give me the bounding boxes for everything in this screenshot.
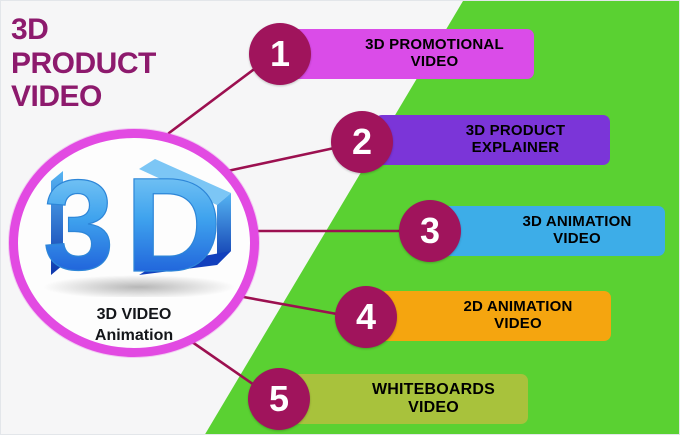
logo-caption: 3D VIDEO Animation (9, 304, 259, 346)
svg-text:D: D (125, 151, 222, 297)
page-title: 3D PRODUCT VIDEO (11, 13, 221, 114)
row-2-number: 2 (352, 121, 372, 163)
svg-text:3: 3 (43, 154, 114, 297)
infographic-canvas: 3D PRODUCT VIDEO (0, 0, 680, 435)
page-title-line-1: 3D (11, 13, 221, 47)
row-4-number: 4 (356, 296, 376, 338)
logo-circle: 3 D 3D VIDEO Animation (9, 129, 267, 364)
row-5-number: 5 (269, 378, 289, 420)
row-2-number-badge[interactable]: 2 (331, 111, 393, 173)
row-3-number: 3 (420, 210, 440, 252)
row-2-bar[interactable]: 3D PRODUCT EXPLAINER (375, 115, 610, 165)
row-2-label: 3D PRODUCT EXPLAINER (466, 123, 566, 157)
row-5-number-badge[interactable]: 5 (248, 368, 310, 430)
row-1-number-badge[interactable]: 1 (249, 23, 311, 85)
three-d-logo-icon: 3 D (21, 147, 249, 297)
row-4-number-badge[interactable]: 4 (335, 286, 397, 348)
row-4-label: 2D ANIMATION VIDEO (463, 299, 572, 333)
row-3-number-badge[interactable]: 3 (399, 200, 461, 262)
row-5-bar[interactable]: WHITEBOARDS VIDEO (293, 374, 528, 424)
page-title-line-3: VIDEO (11, 80, 221, 114)
row-1-bar[interactable]: 3D PROMOTIONAL VIDEO (289, 29, 534, 79)
row-4-bar[interactable]: 2D ANIMATION VIDEO (379, 291, 611, 341)
logo-caption-line-2: Animation (9, 325, 259, 346)
row-3-bar[interactable]: 3D ANIMATION VIDEO (443, 206, 665, 256)
row-1-label: 3D PROMOTIONAL VIDEO (365, 37, 504, 71)
page-title-line-2: PRODUCT (11, 47, 221, 81)
logo-caption-line-1: 3D VIDEO (9, 304, 259, 325)
row-1-number: 1 (270, 33, 290, 75)
row-5-label: WHITEBOARDS VIDEO (372, 381, 495, 417)
row-3-label: 3D ANIMATION VIDEO (522, 214, 631, 248)
